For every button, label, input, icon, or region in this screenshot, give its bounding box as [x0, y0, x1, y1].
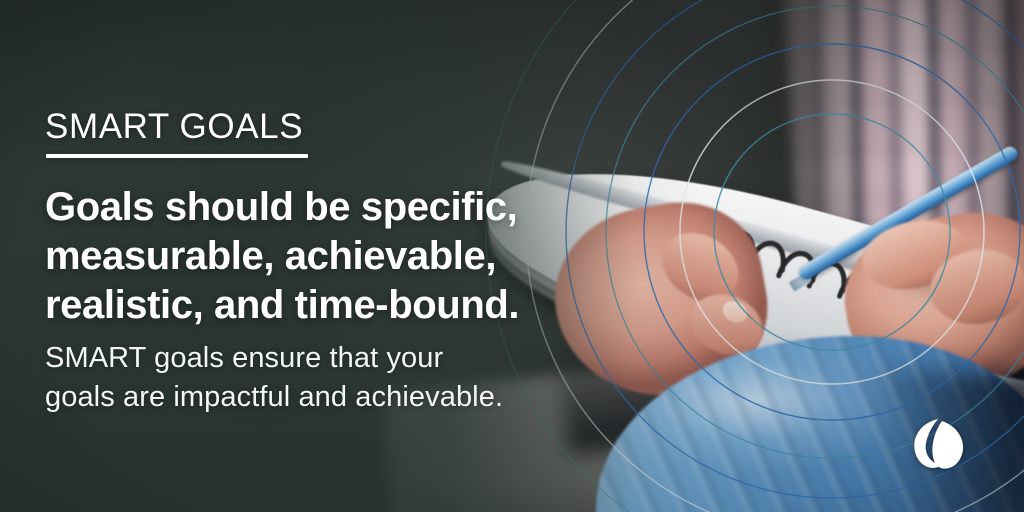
title-underline-rule: [46, 154, 308, 158]
headline-line-3: realistic, and time-bound.: [45, 281, 575, 330]
headline: Goals should be specific, measurable, ac…: [45, 183, 575, 330]
subtext-line-2: goals are impactful and achievable.: [45, 378, 585, 417]
logo-pointed-leaf: [932, 421, 963, 469]
subtext: SMART goals ensure that your goals are i…: [45, 339, 585, 417]
text-content-block: SMART GOALS Goals should be specific, me…: [45, 0, 605, 512]
headline-line-1: Goals should be specific,: [45, 183, 575, 232]
leaf-mark-logo: [908, 413, 970, 475]
eyebrow-label: SMART GOALS: [45, 106, 303, 148]
headline-line-2: measurable, achievable,: [45, 232, 575, 281]
leaf-mark-icon: [908, 413, 970, 475]
subtext-line-1: SMART goals ensure that your: [45, 339, 585, 378]
smart-goals-banner: SMART GOALS Goals should be specific, me…: [0, 0, 1024, 512]
